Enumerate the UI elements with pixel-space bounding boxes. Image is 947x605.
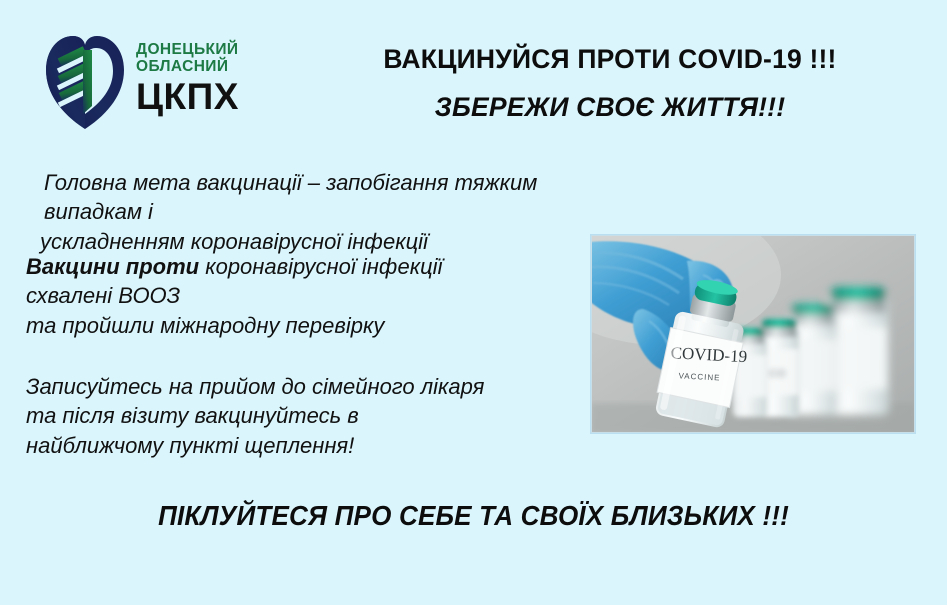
paragraph-goal-line-1: Головна мета вакцинації – запобігання тя… [44, 168, 604, 227]
paragraph-approved-line-1: Вакцини проти коронавірусної інфекції [26, 252, 586, 281]
paragraph-approved-line-3: та пройшли міжнародну перевірку [26, 311, 586, 340]
paragraph-approved-lead: Вакцини проти [26, 254, 199, 279]
paragraph-goal: Головна мета вакцинації – запобігання тя… [44, 168, 604, 256]
paragraph-approved: Вакцини проти коронавірусної інфекції сх… [26, 252, 586, 340]
logo-line-1: ДОНЕЦЬКИЙ [136, 41, 239, 58]
vaccine-vial-photo: CO [591, 235, 915, 433]
paragraph-register: Записуйтесь на прийом до сімейного лікар… [26, 372, 596, 460]
paragraph-register-line-1: Записуйтесь на прийом до сімейного лікар… [26, 372, 596, 401]
vial-label-title: COVID-19 [670, 343, 747, 366]
footer-call-to-action: ПІКЛУЙТЕСЯ ПРО СЕБЕ ТА СВОЇХ БЛИЗЬКИХ !!… [33, 500, 914, 532]
paragraph-approved-rest: коронавірусної інфекції [199, 254, 442, 279]
paragraph-register-line-2: та після візиту вакцинуйтесь в [26, 401, 596, 430]
headline-line-1: ВАКЦИНУЙСЯ ПРОТИ COVID-19 !!! [300, 44, 920, 75]
logo-wordmark: ДОНЕЦЬКИЙ ОБЛАСНИЙ ЦКПХ [136, 41, 239, 116]
vaccination-poster: ДОНЕЦЬКИЙ ОБЛАСНИЙ ЦКПХ ВАКЦИНУЙСЯ ПРОТИ… [0, 0, 947, 605]
headline-block: ВАКЦИНУЙСЯ ПРОТИ COVID-19 !!! ЗБЕРЕЖИ СВ… [300, 44, 920, 123]
shield-heart-logo-icon [42, 28, 128, 130]
paragraph-approved-line-2: схвалені ВООЗ [26, 281, 586, 310]
paragraph-register-line-3: найближчому пункті щеплення! [26, 431, 596, 460]
back-vial-label-text: CO [769, 368, 786, 380]
headline-line-2: ЗБЕРЕЖИ СВОЄ ЖИТТЯ!!! [300, 92, 920, 123]
vaccine-photo-illustration: CO [591, 235, 915, 433]
logo-abbreviation: ЦКПХ [136, 78, 239, 116]
logo-line-2: ОБЛАСНИЙ [136, 58, 239, 75]
organization-logo: ДОНЕЦЬКИЙ ОБЛАСНИЙ ЦКПХ [42, 26, 239, 131]
